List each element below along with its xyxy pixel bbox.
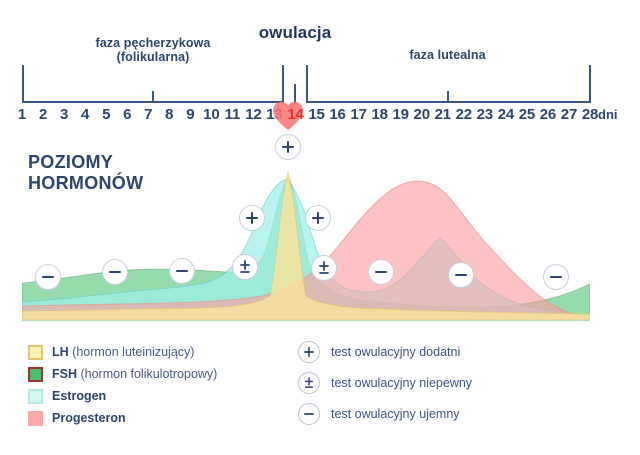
minus-icon [170,259,194,283]
legend-swatch-progesteron [28,411,43,426]
test-marker-negative[interactable] [102,259,128,285]
legend-item-progesteron: Progesteron [28,407,126,429]
legend-swatch-fsh [28,367,43,382]
test-marker-negative[interactable] [368,259,394,285]
legend-abbr-progesteron: Progesteron [52,411,126,425]
legend-marker-negative [298,403,320,425]
legend-abbr-estrogen: Estrogen [52,389,106,403]
plus-icon [240,206,264,230]
test-marker-negative[interactable] [169,258,195,284]
legend-desc-lh: (hormon luteinizujący) [72,345,194,359]
legend-marker-uncertain [298,372,320,394]
legend-label-progesteron: Progesteron [52,411,126,426]
minus-icon [369,260,393,284]
plus-minus-icon [233,255,257,279]
plus-minus-icon [299,373,319,393]
minus-icon [449,263,473,287]
legend-item-test-positive: test owulacyjny dodatni [298,341,460,363]
test-marker-positive[interactable] [275,134,301,160]
test-marker-uncertain[interactable] [311,255,337,281]
minus-icon [299,404,319,424]
legend-item-fsh: FSH (hormon folikulotropowy) [28,363,217,385]
legend-label-test-positive: test owulacyjny dodatni [331,345,460,360]
test-marker-positive[interactable] [239,205,265,231]
legend-label-estrogen: Estrogen [52,389,106,404]
test-marker-negative[interactable] [35,264,61,290]
legend-swatch-estrogen [28,389,43,404]
legend-abbr-lh: LH [52,345,69,359]
legend-marker-positive [298,341,320,363]
legend-abbr-fsh: FSH [52,367,77,381]
legend-swatch-lh [28,345,43,360]
legend-item-lh: LH (hormon luteinizujący) [28,341,194,363]
minus-icon [103,260,127,284]
plus-icon [299,342,319,362]
legend-item-test-uncertain: test owulacyjny niepewny [298,372,472,394]
plus-icon [306,206,330,230]
day-number-14[interactable]: 14 [284,104,306,126]
test-marker-negative[interactable] [543,264,569,290]
test-marker-negative[interactable] [448,262,474,288]
legend-item-test-negative: test owulacyjny ujemny [298,403,460,425]
minus-icon [36,265,60,289]
legend-item-estrogen: Estrogen [28,385,106,407]
legend-label-fsh: FSH (hormon folikulotropowy) [52,367,217,382]
minus-icon [544,265,568,289]
infographic-root: faza pęcherzykowa (folikularna) owulacja… [0,0,640,455]
plus-icon [276,135,300,159]
test-marker-positive[interactable] [305,205,331,231]
plus-minus-icon [312,256,336,280]
test-marker-uncertain[interactable] [232,254,258,280]
legend-desc-fsh: (hormon folikulotropowy) [80,367,217,381]
legend-label-test-negative: test owulacyjny ujemny [331,407,460,422]
legend-label-test-uncertain: test owulacyjny niepewny [331,376,472,391]
legend-label-lh: LH (hormon luteinizujący) [52,345,194,360]
